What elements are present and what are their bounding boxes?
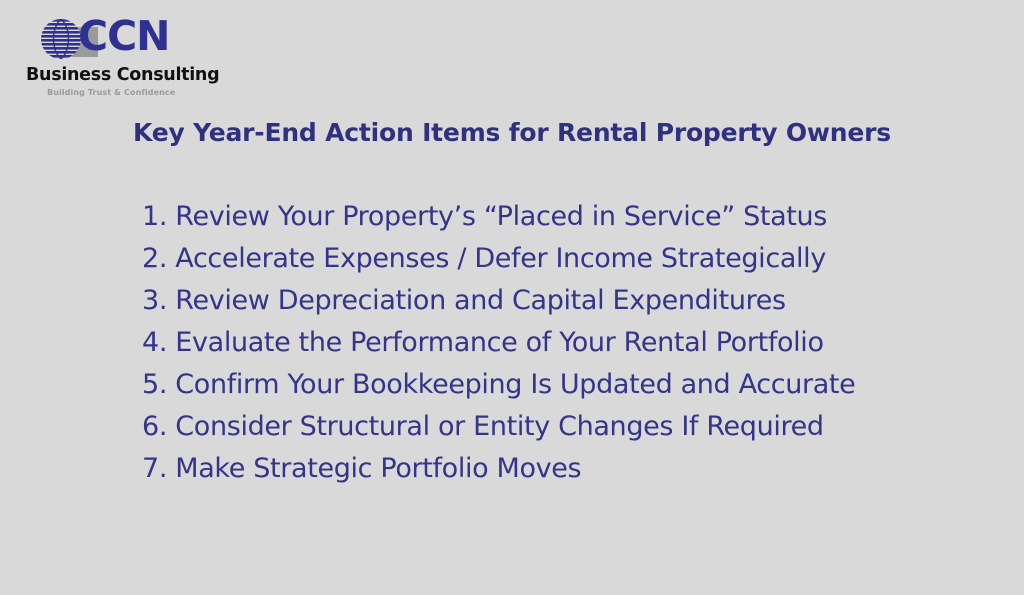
list-item: 2. Accelerate Expenses / Defer Income St… [142,238,1002,280]
logo-mark-row: CCN [22,12,198,64]
slide-canvas: CCN Business Consulting Building Trust &… [0,0,1024,595]
list-item: 6. Consider Structural or Entity Changes… [142,406,1002,448]
action-items-list: 1. Review Your Property’s “Placed in Ser… [142,196,1002,490]
striped-sphere-icon [40,18,82,60]
list-item: 5. Confirm Your Bookkeeping Is Updated a… [142,364,1002,406]
list-item: 3. Review Depreciation and Capital Expen… [142,280,1002,322]
list-item: 7. Make Strategic Portfolio Moves [142,448,1002,490]
page-title: Key Year-End Action Items for Rental Pro… [0,118,1024,147]
list-item: 4. Evaluate the Performance of Your Rent… [142,322,1002,364]
logo-subtitle: Business Consulting [26,65,219,85]
logo-brand-text: CCN [78,10,170,62]
list-item: 1. Review Your Property’s “Placed in Ser… [142,196,1002,238]
company-logo: CCN Business Consulting Building Trust &… [22,12,202,104]
logo-tagline: Building Trust & Confidence [47,88,175,97]
